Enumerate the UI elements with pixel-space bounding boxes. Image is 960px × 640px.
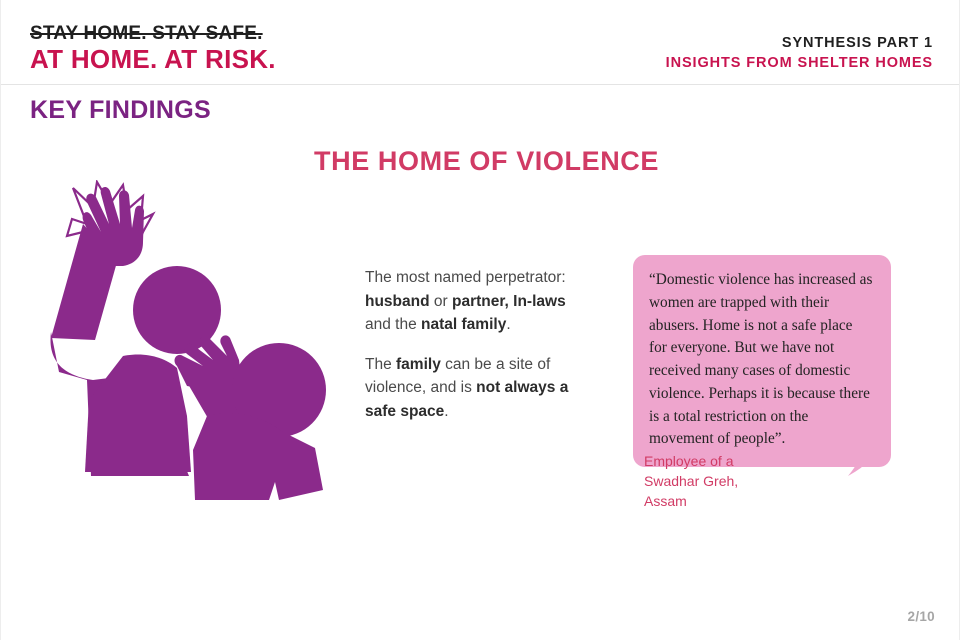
synthesis-part-label: SYNTHESIS PART 1 xyxy=(666,34,933,54)
header-divider xyxy=(1,84,959,85)
insights-source-label: INSIGHTS FROM SHELTER HOMES xyxy=(666,54,933,74)
slide-root: STAY HOME. STAY SAFE. AT HOME. AT RISK. … xyxy=(0,0,960,640)
two-figures-violence-illustration xyxy=(31,180,351,510)
p1-text-1: The most named perpetrator: xyxy=(365,269,566,286)
quote-bubble: “Domestic violence has increased as wome… xyxy=(633,255,891,467)
p1-bold-partner-inlaws: partner, In-laws xyxy=(452,293,566,310)
page-number: 2/10 xyxy=(908,609,935,624)
quote-bubble-tail xyxy=(844,440,878,478)
brand-lockup: STAY HOME. STAY SAFE. AT HOME. AT RISK. xyxy=(30,24,276,74)
page-title: THE HOME OF VIOLENCE xyxy=(314,146,659,177)
p2-text-3: . xyxy=(444,403,448,420)
slide-header: STAY HOME. STAY SAFE. AT HOME. AT RISK. … xyxy=(1,0,959,85)
p1-text-4: . xyxy=(506,316,510,333)
p1-text-2: or xyxy=(430,293,452,310)
figure-reaching xyxy=(175,335,326,500)
p2-bold-family: family xyxy=(396,356,441,373)
header-meta: SYNTHESIS PART 1 INSIGHTS FROM SHELTER H… xyxy=(666,34,933,73)
p1-bold-husband: husband xyxy=(365,293,430,310)
brand-title: AT HOME. AT RISK. xyxy=(30,45,276,74)
quote-attribution: Employee of aSwadhar Greh,Assam xyxy=(644,452,738,512)
figure-raising-hand xyxy=(50,187,221,476)
brand-strikethrough-line: STAY HOME. STAY SAFE. xyxy=(30,24,276,44)
body-paragraph-1: The most named perpetrator: husband or p… xyxy=(365,266,587,337)
p1-text-3: and the xyxy=(365,316,421,333)
body-copy-column: The most named perpetrator: husband or p… xyxy=(365,266,587,423)
p2-text-1: The xyxy=(365,356,396,373)
p1-bold-natal-family: natal family xyxy=(421,316,506,333)
quote-attribution-text: Employee of aSwadhar Greh,Assam xyxy=(644,453,738,509)
section-label-key-findings: KEY FINDINGS xyxy=(30,96,211,125)
body-paragraph-2: The family can be a site of violence, an… xyxy=(365,353,587,424)
